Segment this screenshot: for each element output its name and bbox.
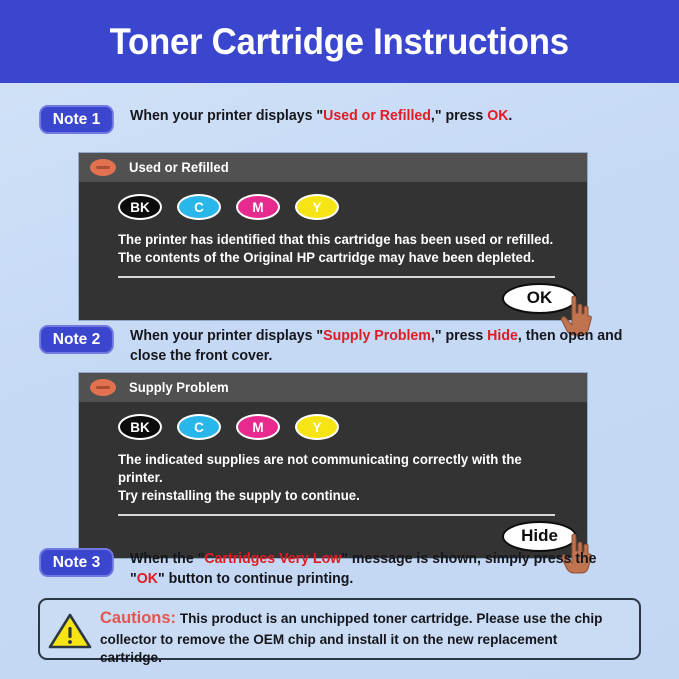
minus-circle-icon xyxy=(90,379,116,396)
dialog-title-2: Supply Problem xyxy=(129,380,229,395)
minus-circle-icon xyxy=(90,159,116,176)
dialog-header-2: Supply Problem xyxy=(79,373,587,402)
highlighted-term: Hide xyxy=(487,328,518,344)
note-row-1: Note 1 When your printer displays "Used … xyxy=(38,105,648,134)
caution-label: Cautions: xyxy=(100,608,176,627)
highlighted-term: Cartridges Very Low xyxy=(204,551,341,567)
dialog-actions-1: OK xyxy=(97,278,569,320)
highlighted-term: Supply Problem xyxy=(323,328,431,344)
note-text-1: When your printer displays "Used or Refi… xyxy=(130,105,512,126)
highlighted-term: OK xyxy=(137,571,158,587)
page-title: Toner Cartridge Instructions xyxy=(110,21,569,63)
note-row-2: Note 2 When your printer displays "Suppl… xyxy=(38,325,648,366)
dialog-title-1: Used or Refilled xyxy=(129,160,229,175)
note-badge-3: Note 3 xyxy=(39,548,114,577)
toner-chip-black[interactable]: BK xyxy=(118,194,162,220)
dialog-body-2: BK C M Y The indicated supplies are not … xyxy=(79,402,587,558)
toner-chip-row-2: BK C M Y xyxy=(118,414,569,440)
dialog-message-2-line1: The indicated supplies are not communica… xyxy=(118,451,555,487)
page-header: Toner Cartridge Instructions xyxy=(0,0,679,83)
toner-chip-yellow[interactable]: Y xyxy=(295,414,339,440)
toner-chip-row-1: BK C M Y xyxy=(118,194,569,220)
dialog-message-1-line2: The contents of the Original HP cartridg… xyxy=(118,249,555,267)
instruction-page: Toner Cartridge Instructions Note 1 When… xyxy=(0,0,679,679)
toner-chip-yellow[interactable]: Y xyxy=(295,194,339,220)
printer-dialog-used-or-refilled: Used or Refilled BK C M Y The printer ha… xyxy=(78,152,588,321)
highlighted-term: OK xyxy=(487,108,508,124)
toner-chip-black[interactable]: BK xyxy=(118,414,162,440)
note-text-3: When the "Cartridges Very Low" message i… xyxy=(130,548,632,589)
toner-chip-cyan[interactable]: C xyxy=(177,194,221,220)
toner-chip-cyan[interactable]: C xyxy=(177,414,221,440)
dialog-message-1: The printer has identified that this car… xyxy=(118,231,555,267)
caution-body: This product is an unchipped toner cartr… xyxy=(100,610,602,665)
toner-chip-magenta[interactable]: M xyxy=(236,414,280,440)
toner-chip-magenta[interactable]: M xyxy=(236,194,280,220)
highlighted-term: Used or Refilled xyxy=(323,108,431,124)
caution-text: Cautions: This product is an unchipped t… xyxy=(100,607,615,667)
caution-box: Cautions: This product is an unchipped t… xyxy=(38,598,641,660)
note-badge-1: Note 1 xyxy=(39,105,114,134)
note-text-2: When your printer displays "Supply Probl… xyxy=(130,325,632,366)
dialog-body-1: BK C M Y The printer has identified that… xyxy=(79,182,587,320)
printer-dialog-supply-problem: Supply Problem BK C M Y The indicated su… xyxy=(78,372,588,559)
dialog-message-2: The indicated supplies are not communica… xyxy=(118,451,555,505)
dialog-message-2-line2: Try reinstalling the supply to continue. xyxy=(118,487,555,505)
warning-triangle-icon xyxy=(48,612,92,650)
note-row-3: Note 3 When the "Cartridges Very Low" me… xyxy=(38,548,648,589)
note-badge-2: Note 2 xyxy=(39,325,114,354)
dialog-header-1: Used or Refilled xyxy=(79,153,587,182)
dialog-message-1-line1: The printer has identified that this car… xyxy=(118,231,555,249)
